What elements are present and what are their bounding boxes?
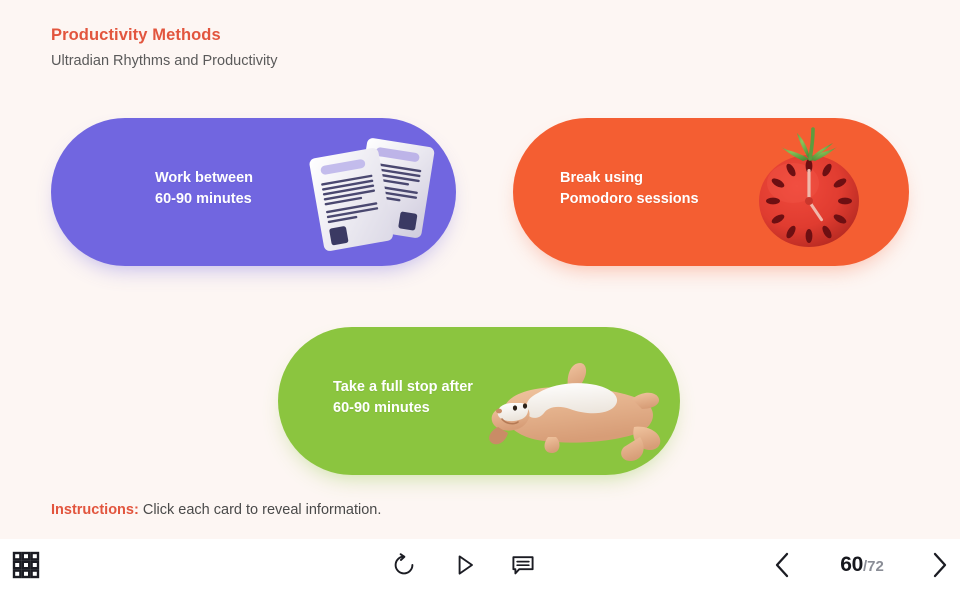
slide-counter: 60/72 [820,553,904,577]
player-toolbar: 60/72 [0,539,960,590]
instructions-lead: Instructions: [51,502,139,518]
next-slide-button[interactable] [925,550,953,580]
notes-button[interactable] [508,550,538,580]
grid-icon [12,551,40,579]
instructions-text: Click each card to reveal information. [139,502,382,518]
card-work-between[interactable]: Work between 60-90 minutes [51,118,456,266]
card-work-surface [51,118,456,266]
replay-button[interactable] [389,550,419,580]
chevron-right-icon [927,551,951,579]
chevron-left-icon [771,551,795,579]
page-subtitle: Ultradian Rhythms and Productivity [51,53,277,69]
card-break-pomodoro[interactable]: Break using Pomodoro sessions [513,118,909,266]
current-slide-number: 60 [840,553,863,576]
grid-menu-button[interactable] [10,549,42,581]
notes-icon [510,552,536,578]
instructions: Instructions: Click each card to reveal … [51,502,381,518]
previous-slide-button[interactable] [769,550,797,580]
page-title: Productivity Methods [51,26,221,45]
replay-icon [391,552,417,578]
slide-stage: Productivity Methods Ultradian Rhythms a… [0,0,960,590]
play-button[interactable] [450,550,480,580]
total-slide-count: /72 [863,558,884,575]
card-full-stop[interactable]: Take a full stop after 60-90 minutes [278,327,680,475]
card-break-label: Break using Pomodoro sessions [560,168,699,210]
slide-content: Productivity Methods Ultradian Rhythms a… [0,0,960,539]
card-stop-label: Take a full stop after 60-90 minutes [333,377,473,419]
play-icon [452,552,478,578]
card-work-label: Work between 60-90 minutes [155,168,253,210]
